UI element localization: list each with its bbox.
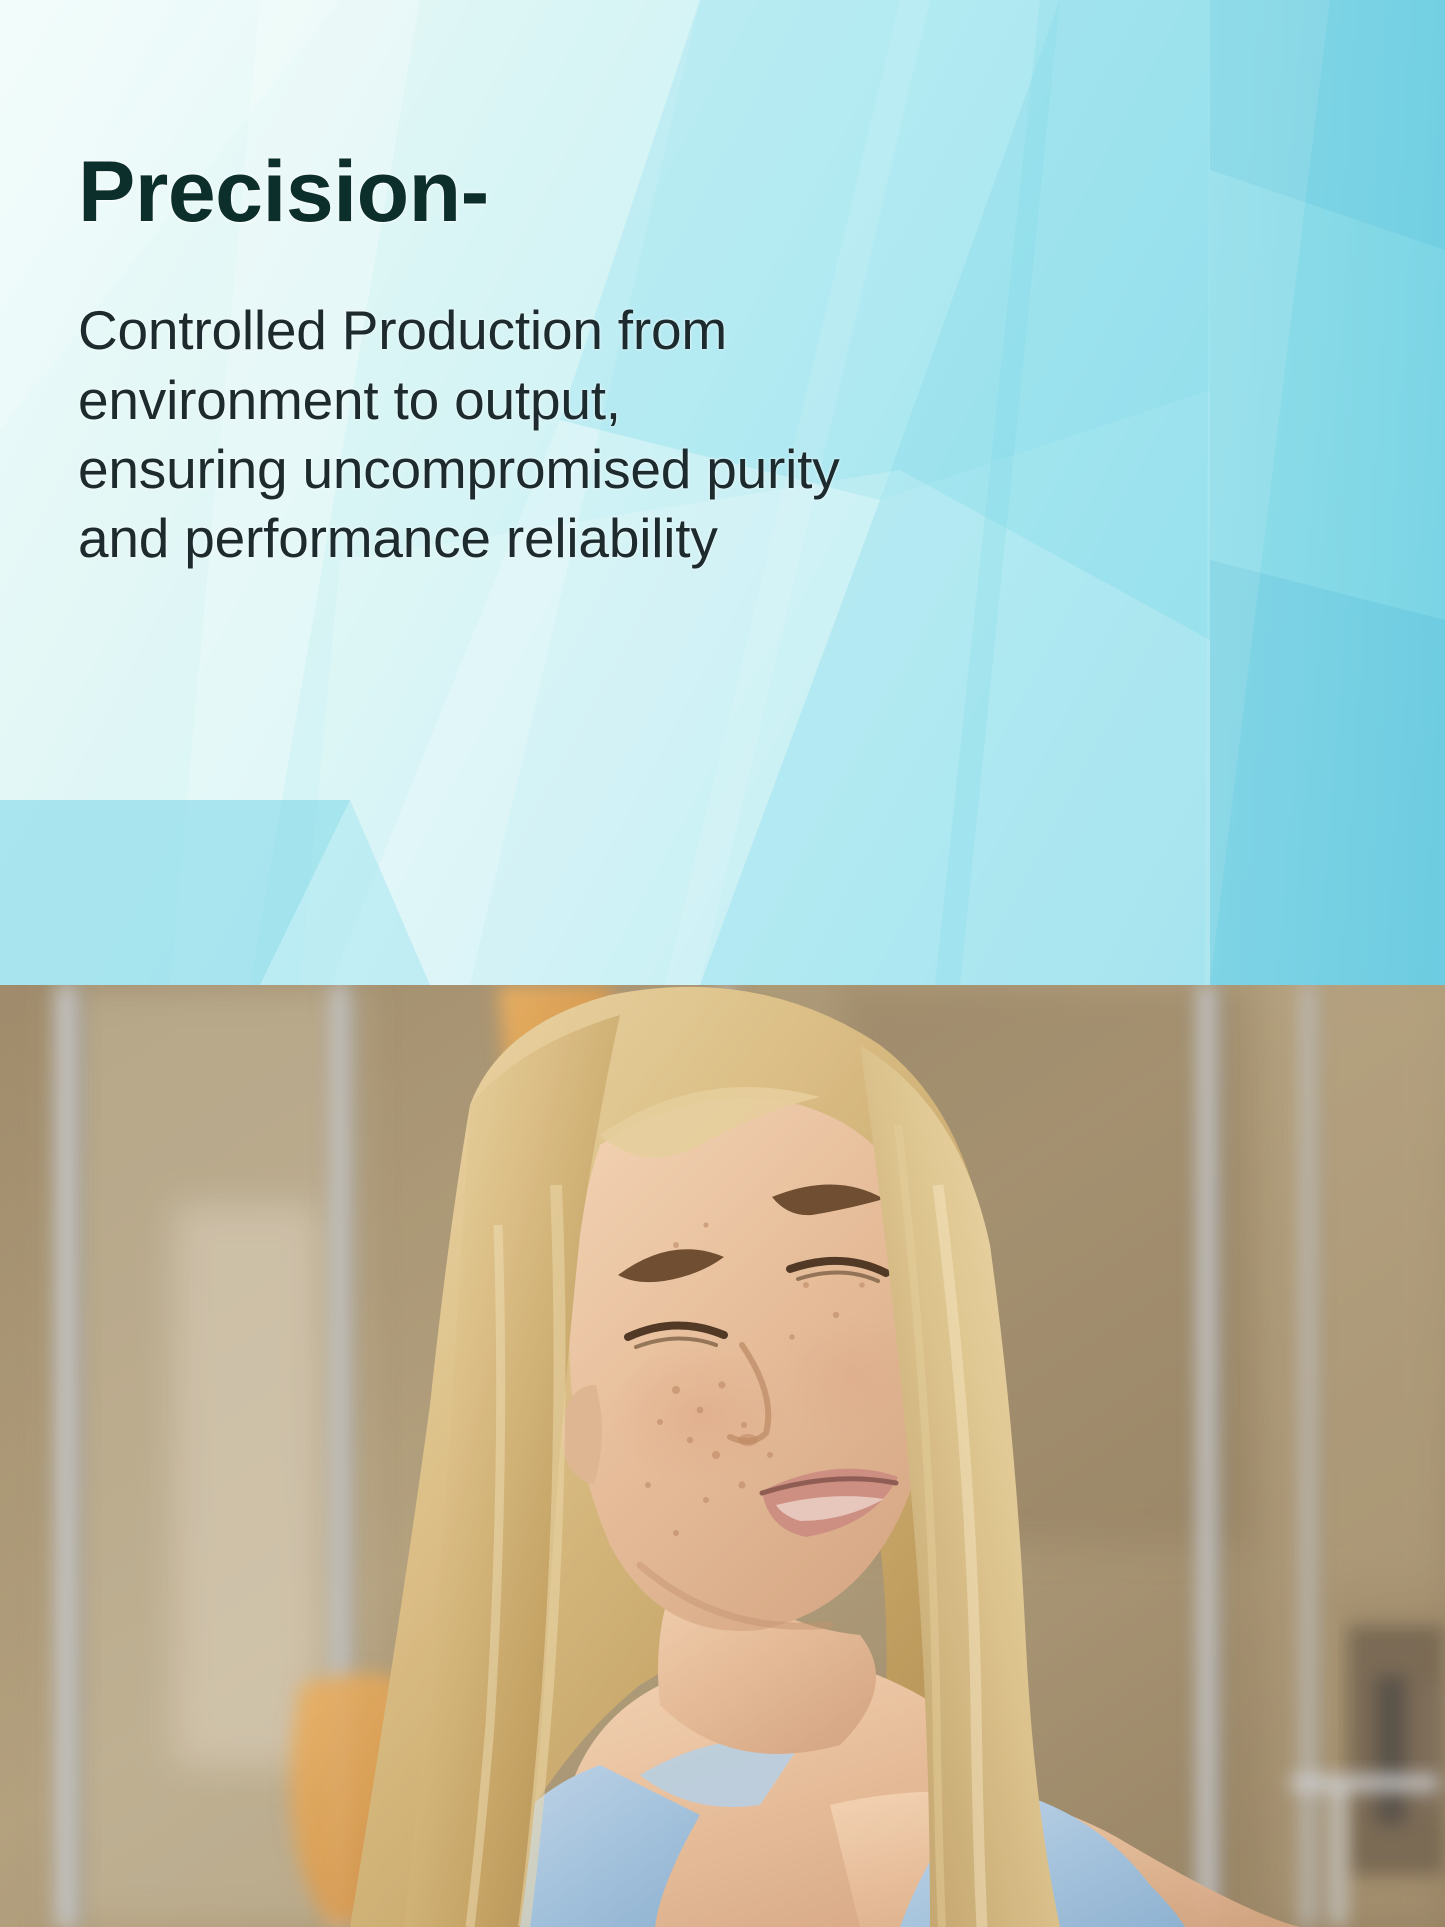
page-title: Precision- [78,150,1038,234]
subcopy-line-2: environment to output, [78,366,1038,435]
portrait-photo [0,985,1445,1927]
subcopy-line-4: and performance reliability [78,504,1038,573]
hero-subcopy: Controlled Production from environment t… [78,234,1038,573]
subcopy-line-1: Controlled Production from [78,296,1038,365]
hero-photo [0,985,1445,1927]
subcopy-line-3: ensuring uncompromised purity [78,435,1038,504]
hero-panel: Precision- Controlled Production from en… [0,0,1445,985]
promo-slide: Precision- Controlled Production from en… [0,0,1445,1927]
hero-text-block: Precision- Controlled Production from en… [78,150,1038,573]
